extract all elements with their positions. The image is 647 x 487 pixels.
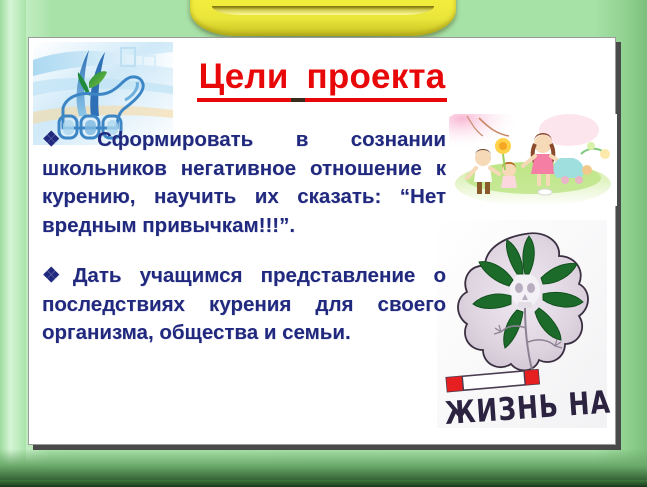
title-word-2: проекта xyxy=(305,57,448,102)
bullet-marker-icon: ❖ xyxy=(42,128,97,151)
bullet-item-1: ❖Сформировать в сознании школьников нега… xyxy=(42,126,446,240)
bullet-list: ❖Сформировать в сознании школьников нега… xyxy=(42,126,446,348)
title-word-1: Цели xyxy=(197,57,291,102)
bullet-text-2: Дать учащимся представление о последстви… xyxy=(42,264,446,344)
anti-smoking-poster: ЖИЗНЬ НА ВЕТЕР! ЖИЗНЬ НА ВЕТЕР! xyxy=(429,216,615,432)
title-gap xyxy=(291,57,305,102)
slide-canvas: Цели проекта xyxy=(0,0,647,487)
children-playing-image xyxy=(449,114,617,206)
bullet-text-1: Сформировать в сознании школьников негат… xyxy=(42,128,446,237)
content-card: Цели проекта xyxy=(28,37,616,445)
anti-smoking-poster-image: ЖИЗНЬ НА ВЕТЕР! xyxy=(429,216,615,432)
children-playing-illustration xyxy=(449,114,617,206)
page-title: Цели проекта xyxy=(29,57,615,102)
bottom-edge-strip xyxy=(0,480,647,487)
yellow-tab-decoration xyxy=(190,0,456,36)
bullet-marker-icon: ❖ xyxy=(42,264,73,287)
bullet-item-2: ❖Дать учащимся представление о последств… xyxy=(42,262,446,348)
